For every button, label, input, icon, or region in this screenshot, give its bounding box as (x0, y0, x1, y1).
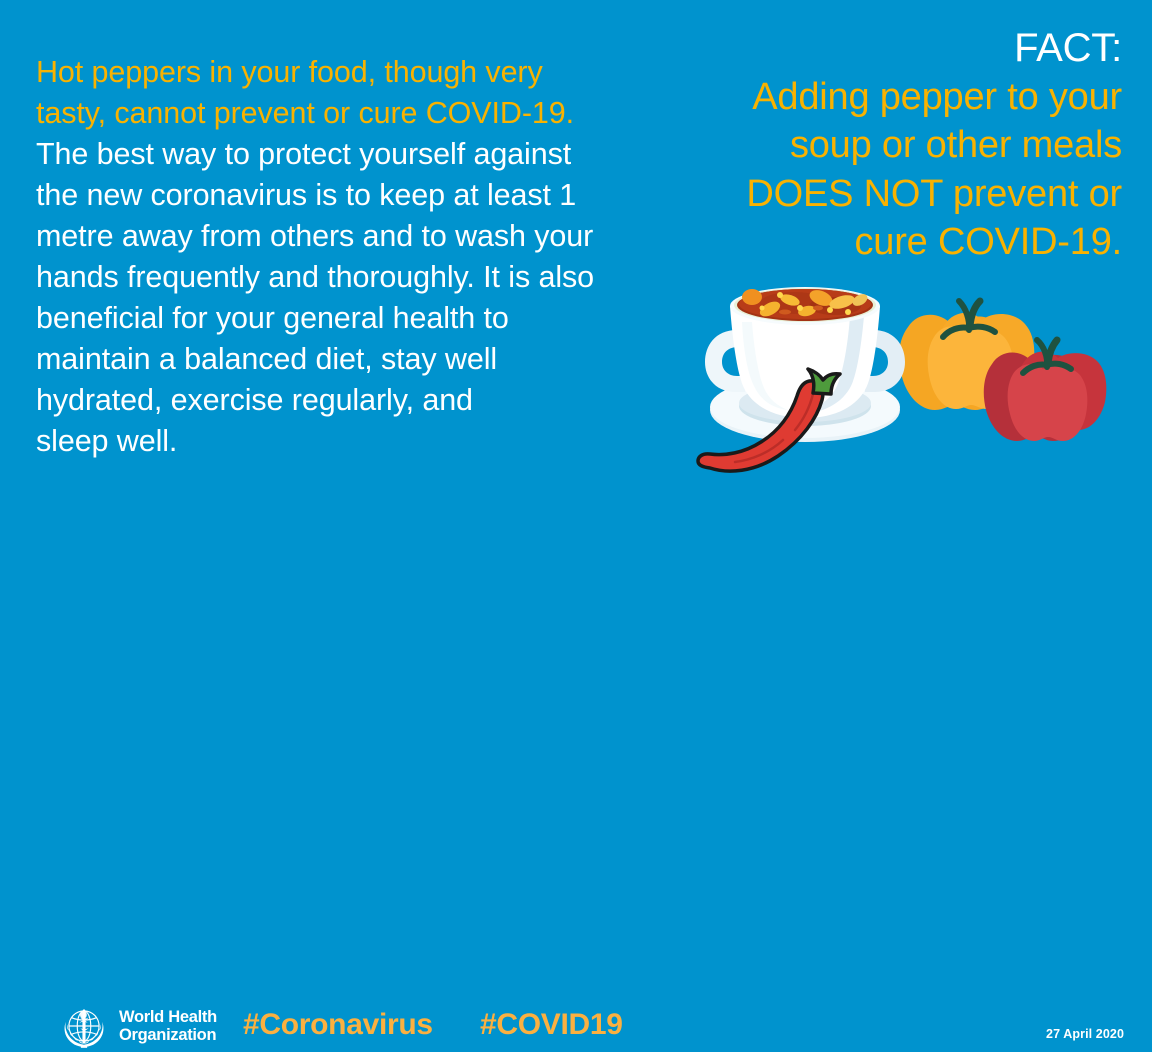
body-copy: Hot peppers in your food, though very ta… (36, 52, 652, 462)
headline-block: FACT: Adding pepper to your soup or othe… (662, 24, 1122, 267)
who-fact-poster: Hot peppers in your food, though very ta… (0, 0, 1152, 576)
body-copy-line: sleep well. (36, 421, 652, 462)
fact-label: FACT: (662, 24, 1122, 73)
body-copy-line: the new coronavirus is to keep at least … (36, 175, 652, 216)
body-copy-line: hands frequently and thoroughly. It is a… (36, 257, 652, 298)
body-copy-line: The best way to protect yourself against (36, 134, 652, 175)
footer: World Health Organization #Coronavirus #… (0, 496, 1152, 576)
red-bell-pepper-icon (984, 340, 1107, 441)
headline-line: soup or other meals (662, 121, 1122, 170)
headline-line: Adding pepper to your (662, 73, 1122, 122)
hashtag-covid19[interactable]: #COVID19 (480, 1008, 623, 1042)
body-copy-line: hydrated, exercise regularly, and (36, 380, 652, 421)
body-copy-line: Hot peppers in your food, though very (36, 52, 652, 93)
body-copy-line: metre away from others and to wash your (36, 216, 652, 257)
hashtag-coronavirus[interactable]: #Coronavirus (243, 1008, 433, 1042)
who-emblem-icon (58, 1000, 110, 1052)
food-illustration (690, 270, 1130, 520)
body-copy-line: maintain a balanced diet, stay well (36, 339, 652, 380)
headline-line: cure COVID-19. (662, 218, 1122, 267)
who-wordmark: World Health Organization (119, 1008, 217, 1045)
headline-line: DOES NOT prevent or (662, 170, 1122, 219)
date-stamp: 27 April 2020 (1046, 1027, 1124, 1041)
who-logo: World Health Organization (58, 1000, 217, 1052)
body-copy-line: tasty, cannot prevent or cure COVID-19. (36, 93, 652, 134)
body-copy-line: beneficial for your general health to (36, 298, 652, 339)
who-wordmark-line1: World Health (119, 1008, 217, 1027)
who-wordmark-line2: Organization (119, 1026, 217, 1045)
